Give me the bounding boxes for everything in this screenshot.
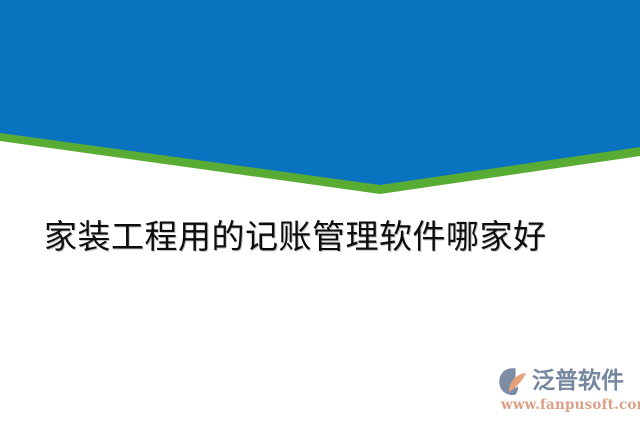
fanpu-shield-icon <box>498 367 530 396</box>
page-title: 家装工程用的记账管理软件哪家好 <box>44 214 596 260</box>
header-chevron-banner <box>0 0 640 200</box>
brand-logo: 泛普软件 www.fanpusoft.com <box>498 366 634 416</box>
banner-green-band <box>0 0 640 194</box>
logo-row: 泛普软件 <box>498 366 634 396</box>
banner-blue-chevron <box>0 0 640 185</box>
logo-website-url: www.fanpusoft.com <box>501 397 634 413</box>
logo-brand-name: 泛普软件 <box>532 369 624 394</box>
slide-canvas: 家装工程用的记账管理软件哪家好 泛普软件 www.fanpusoft.com <box>0 0 640 427</box>
